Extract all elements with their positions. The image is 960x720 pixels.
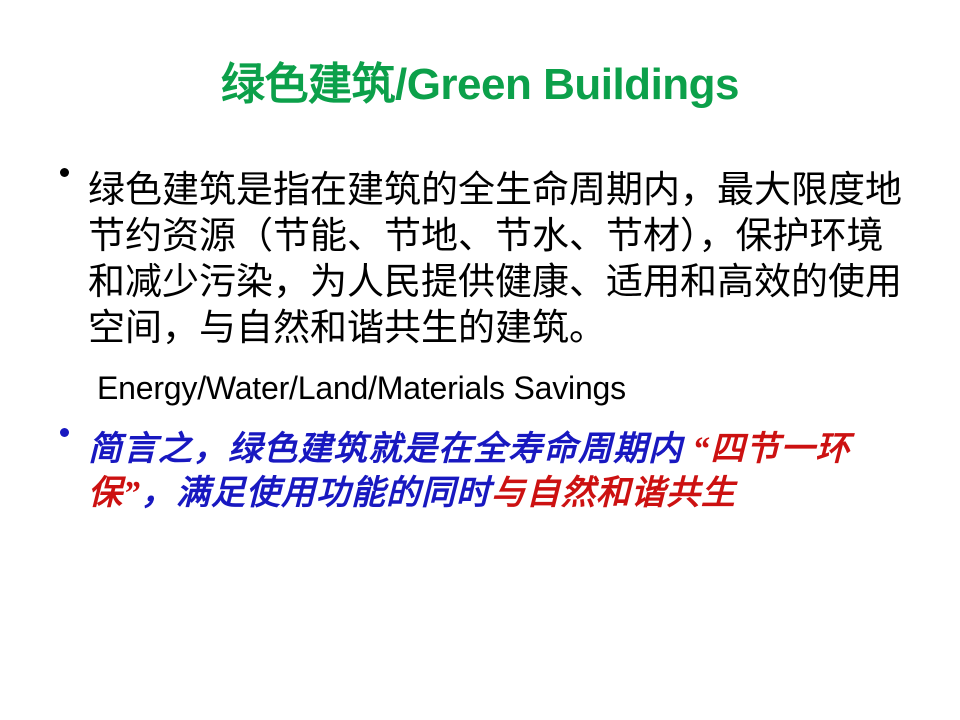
sub-line-savings: Energy/Water/Land/Materials Savings — [50, 368, 912, 408]
bullet-two-seg-3: ，满足使用功能的同时 — [141, 475, 491, 512]
bullet-item-summary: 简言之，绿色建筑就是在全寿命周期内 “四节一环保”，满足使用功能的同时与自然和谐… — [50, 428, 912, 516]
bullet-two-seg-4: 与自然和谐共生 — [491, 475, 736, 512]
page-title: 绿色建筑/Green Buildings — [0, 58, 960, 112]
slide-body: 绿色建筑是指在建筑的全生命周期内，最大限度地节约资源（节能、节地、节水、节材），… — [50, 168, 912, 516]
bullet-dot-icon — [60, 168, 69, 177]
page-title-cjk: 绿色建筑 — [221, 60, 395, 109]
bullet-one-text: 绿色建筑是指在建筑的全生命周期内，最大限度地节约资源（节能、节地、节水、节材），… — [88, 168, 912, 352]
page-title-latin: /Green Buildings — [395, 60, 739, 109]
bullet-dot-blue-icon — [60, 428, 69, 437]
bullet-two-text: 简言之，绿色建筑就是在全寿命周期内 “四节一环保”，满足使用功能的同时与自然和谐… — [88, 428, 912, 516]
bullet-item-definition: 绿色建筑是指在建筑的全生命周期内，最大限度地节约资源（节能、节地、节水、节材），… — [50, 168, 912, 352]
slide-canvas: 绿色建筑/Green Buildings 绿色建筑是指在建筑的全生命周期内，最大… — [0, 0, 960, 720]
bullet-two-seg-1: 简言之，绿色建筑就是在全寿命周期内 — [88, 431, 693, 468]
